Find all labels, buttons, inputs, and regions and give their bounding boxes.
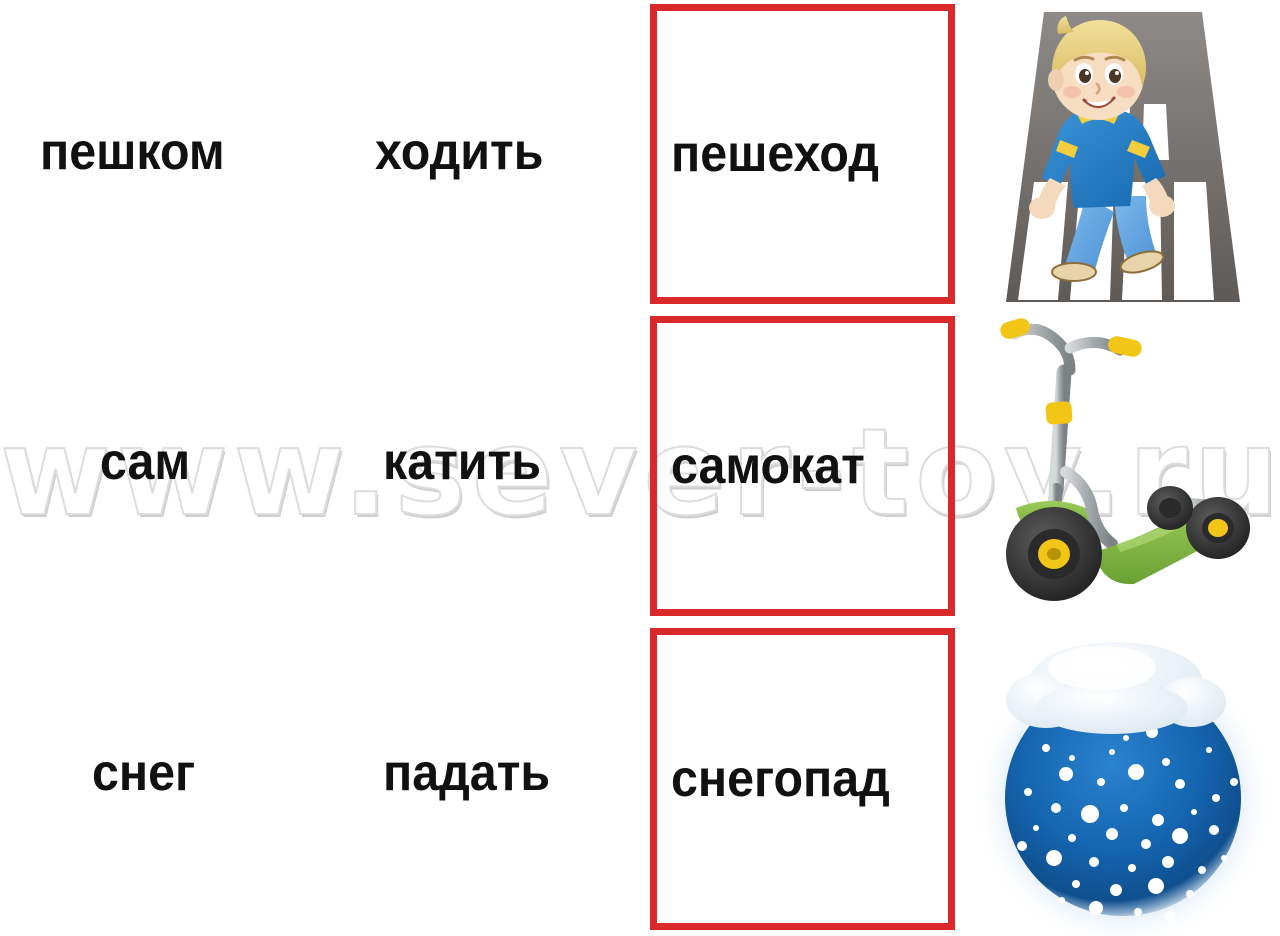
answer-box-row1[interactable]: пешеход [650, 4, 955, 304]
compound-word-row1: пешеход [671, 126, 879, 182]
compound-words-worksheet: www.sever-toy.ru пешком ходить пешеход [0, 0, 1280, 936]
word-part1-row2: сам [100, 434, 190, 490]
compound-word-row3: снегопад [671, 751, 890, 807]
word-part2-row2: катить [383, 434, 541, 490]
illustration-pedestrian-boy-crosswalk [966, 0, 1280, 302]
word-part1-row3: снег [92, 745, 195, 801]
answer-box-row3[interactable]: снегопад [650, 628, 955, 930]
word-part2-row1: ходить [375, 124, 543, 180]
word-part2-row3: падать [383, 745, 550, 801]
illustration-green-kick-scooter [966, 312, 1280, 614]
illustration-snowfall-cloud [966, 622, 1280, 936]
word-part1-row1: пешком [40, 124, 225, 180]
compound-word-row2: самокат [671, 438, 865, 494]
answer-box-row2[interactable]: самокат [650, 316, 955, 616]
